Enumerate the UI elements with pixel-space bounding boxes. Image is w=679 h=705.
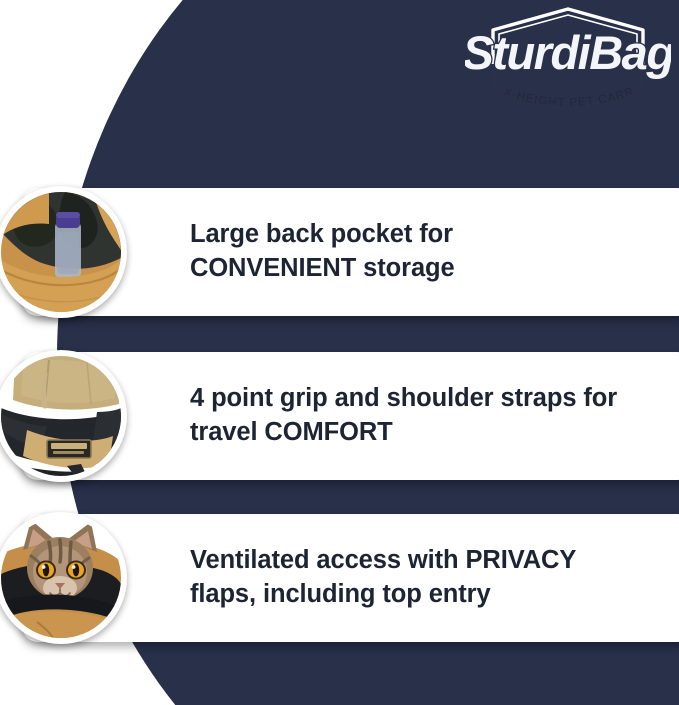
feature-text-3: Ventilated access with PRIVACY flaps, in… bbox=[190, 544, 659, 611]
feature-2-line-2: travel COMFORT bbox=[190, 416, 659, 450]
sturdibag-logo: SturdiBag FLEX-HEIGHT PET CARRIER bbox=[465, 6, 671, 118]
infographic-panel: SturdiBag FLEX-HEIGHT PET CARRIER Large … bbox=[0, 0, 679, 705]
feature-text-2: 4 point grip and shoulder straps for tra… bbox=[190, 382, 659, 449]
feature-1-line-2: CONVENIENT storage bbox=[190, 252, 659, 286]
logo-wordmark-text: SturdiBag bbox=[465, 26, 671, 79]
feature-3-line-1: Ventilated access with PRIVACY bbox=[190, 544, 659, 578]
cat-in-carrier-photo bbox=[0, 512, 127, 644]
feature-3-line-2: flaps, including top entry bbox=[190, 578, 659, 612]
back-pocket-photo bbox=[0, 186, 127, 318]
feature-1-line-1: Large back pocket for bbox=[190, 218, 659, 252]
feature-2-line-1: 4 point grip and shoulder straps for bbox=[190, 382, 659, 416]
shoulder-strap-photo bbox=[0, 350, 127, 482]
feature-text-1: Large back pocket for CONVENIENT storage bbox=[190, 218, 659, 285]
